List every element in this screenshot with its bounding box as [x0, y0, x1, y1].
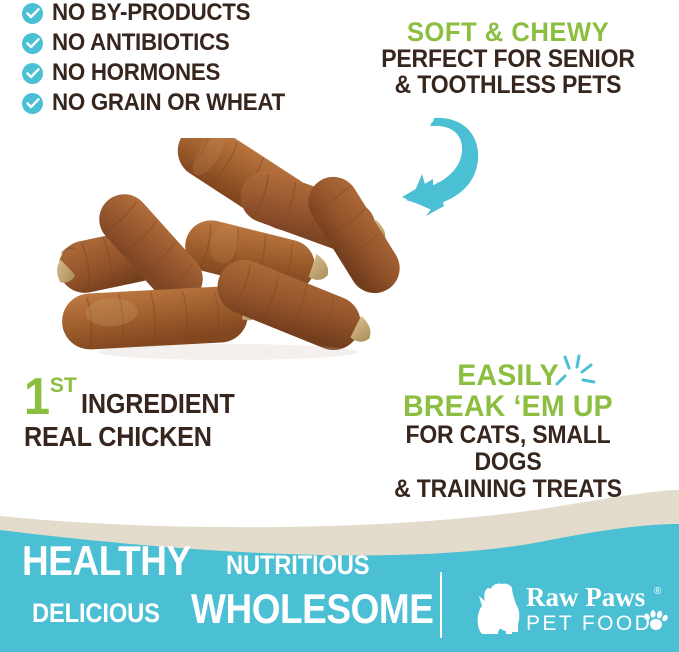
list-item: NO ANTIBIOTICS — [22, 28, 362, 58]
first-ingredient-callout: 1 ST INGREDIENT REAL CHICKEN — [24, 374, 274, 452]
soft-chewy-subline-1: PERFECT FOR SENIOR — [370, 46, 646, 72]
easily-break-headline-1: EASILY — [366, 360, 651, 391]
soft-chewy-headline: SOFT & CHEWY — [366, 18, 651, 46]
product-photo — [52, 138, 412, 363]
banner-word-healthy: HEALTHY — [22, 540, 191, 582]
brand-name: Raw Paws — [526, 582, 645, 612]
bottom-banner: HEALTHY NUTRITIOUS DELICIOUS WHOLESOME — [0, 490, 679, 652]
banner-row-2: DELICIOUS WHOLESOME — [32, 588, 422, 630]
check-circle-icon — [22, 33, 43, 54]
list-item: NO BY-PRODUCTS — [22, 0, 362, 28]
check-circle-icon — [22, 3, 43, 24]
ingredient-number: 1 — [24, 374, 50, 420]
brand-logo: Raw Paws ® PET FOOD — [468, 578, 673, 640]
banner-word-wholesome: WHOLESOME — [191, 588, 433, 630]
check-label: NO HORMONES — [52, 61, 220, 85]
easily-break-callout: EASILY BREAK ‘EM UP FOR CATS, SMALL DOGS… — [358, 360, 658, 503]
banner-row-1: HEALTHY NUTRITIOUS — [22, 540, 422, 582]
registered-mark: ® — [654, 586, 662, 597]
list-item: NO HORMONES — [22, 58, 362, 88]
feature-checklist: NO BY-PRODUCTS NO ANTIBIOTICS NO HORMONE… — [22, 0, 362, 118]
soft-chewy-subline-2: & TOOTHLESS PETS — [370, 72, 646, 98]
soft-chewy-callout: SOFT & CHEWY PERFECT FOR SENIOR & TOOTHL… — [358, 18, 658, 98]
check-label: NO GRAIN OR WHEAT — [52, 91, 285, 115]
ingredient-word: INGREDIENT — [81, 390, 235, 418]
banner-word-delicious: DELICIOUS — [32, 600, 160, 627]
vertical-divider — [440, 572, 442, 638]
check-label: NO BY-PRODUCTS — [52, 1, 250, 25]
ingredient-line-2: REAL CHICKEN — [24, 422, 249, 452]
banner-text-group: HEALTHY NUTRITIOUS DELICIOUS WHOLESOME — [22, 540, 422, 630]
brand-tagline: PET FOOD — [526, 612, 652, 635]
check-circle-icon — [22, 63, 43, 84]
easily-break-subline-1: FOR CATS, SMALL DOGS — [370, 422, 646, 476]
list-item: NO GRAIN OR WHEAT — [22, 88, 362, 118]
marketing-image: NO BY-PRODUCTS NO ANTIBIOTICS NO HORMONE… — [0, 0, 679, 652]
check-label: NO ANTIBIOTICS — [52, 31, 230, 55]
ingredient-line-1: 1 ST INGREDIENT — [24, 374, 274, 420]
easily-break-headline-2: BREAK ‘EM UP — [366, 391, 651, 422]
ingredient-ordinal-suffix: ST — [50, 375, 77, 396]
banner-word-nutritious: NUTRITIOUS — [226, 552, 369, 579]
check-circle-icon — [22, 93, 43, 114]
